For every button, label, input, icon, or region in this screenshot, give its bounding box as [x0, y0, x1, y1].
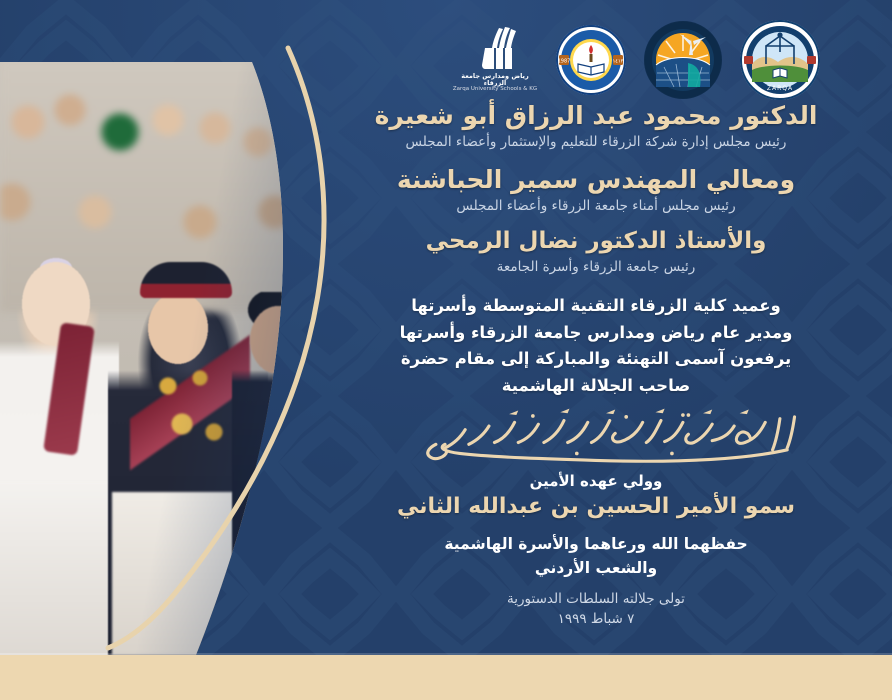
logo-label-arabic: رياض ومدارس جامعة الزرقاء	[452, 73, 538, 87]
honoree-2-name: ومعالي المهندس سمير الحباشنة	[322, 164, 870, 195]
logo-label-english: Zarqa University Schools & KG	[452, 87, 538, 93]
king-name-calligraphy: المَلِك عَبدُ اللهِ الثَّانِي ابنِ الحُس…	[322, 406, 870, 468]
body-paragraph: وعميد كلية الزرقاء التقنية المتوسطة وأسر…	[322, 293, 870, 400]
photo-edge-shading	[0, 62, 330, 655]
body-line-1: وعميد كلية الزرقاء التقنية المتوسطة وأسر…	[322, 293, 870, 320]
logo-zarqa-technical-intermediate-college[interactable]	[644, 21, 722, 103]
circular-seal-dunes-book-icon: ZARQA	[740, 20, 820, 100]
logo-zarqa-university[interactable]: ZARQA	[740, 20, 820, 104]
bottom-beige-band	[0, 655, 892, 700]
logo-zarqa-educational-investment-co[interactable]: 1987 ١٤١٢	[556, 25, 626, 99]
logo-row: رياض ومدارس جامعة الزرقاء Zarqa Universi…	[452, 20, 820, 104]
circular-seal-torch-book-icon: 1987 ١٤١٢	[556, 25, 626, 95]
svg-text:1987: 1987	[558, 59, 571, 65]
accession-note: تولى جلالته السلطات الدستورية ٧ شباط ١٩٩…	[322, 589, 870, 630]
accession-date: ٧ شباط ١٩٩٩	[322, 609, 870, 629]
king-calligraphy-icon	[381, 407, 811, 467]
book-flame-mark-icon	[469, 26, 521, 70]
svg-text:١٤١٢: ١٤١٢	[613, 59, 624, 65]
blessing-line-2: والشعب الأردني	[322, 557, 870, 580]
blessing-block: حفظهما الله ورعاهما والأسرة الهاشمية وال…	[322, 533, 870, 580]
honoree-1-title: رئيس مجلس إدارة شركة الزرقاء للتعليم وال…	[322, 132, 870, 152]
crown-prince-name: سمو الأمير الحسين بن عبدالله الثاني	[322, 493, 870, 522]
poster-root: صورة الملك عبدالله الثاني والملكة رانيا …	[0, 0, 892, 700]
body-line-3: يرفعون آسمى التهنئة والمباركة إلى مقام ح…	[322, 346, 870, 373]
photo-caption: صورة الملك عبدالله الثاني والملكة رانيا …	[329, 62, 330, 63]
body-line-2: ومدير عام رياض ومدارس جامعة الزرقاء وأسر…	[322, 320, 870, 347]
honoree-3-name: والأستاذ الدكتور نضال الرمحي	[322, 227, 870, 256]
body-line-4: صاحب الجلالة الهاشمية	[322, 373, 870, 400]
honoree-3-title: رئيس جامعة الزرقاء وأسرة الجامعة	[322, 257, 870, 277]
text-content: الدكتور محمود عبد الرزاق أبو شعيرة رئيس …	[300, 100, 892, 629]
crown-prince-intro: وولي عهده الأمين	[322, 472, 870, 490]
svg-text:ZARQA: ZARQA	[767, 85, 793, 92]
blessing-line-1: حفظهما الله ورعاهما والأسرة الهاشمية	[322, 533, 870, 556]
accession-text: تولى جلالته السلطات الدستورية	[322, 589, 870, 609]
logo-zarqa-university-schools-kg[interactable]: رياض ومدارس جامعة الزرقاء Zarqa Universi…	[452, 26, 538, 98]
royal-family-photo: صورة الملك عبدالله الثاني والملكة رانيا …	[0, 62, 330, 655]
honoree-2-title: رئيس مجلس أمناء جامعة الزرقاء وأعضاء الم…	[322, 196, 870, 216]
circular-seal-sunrise-globe-icon	[644, 21, 722, 99]
honoree-1-name: الدكتور محمود عبد الرزاق أبو شعيرة	[322, 100, 870, 131]
